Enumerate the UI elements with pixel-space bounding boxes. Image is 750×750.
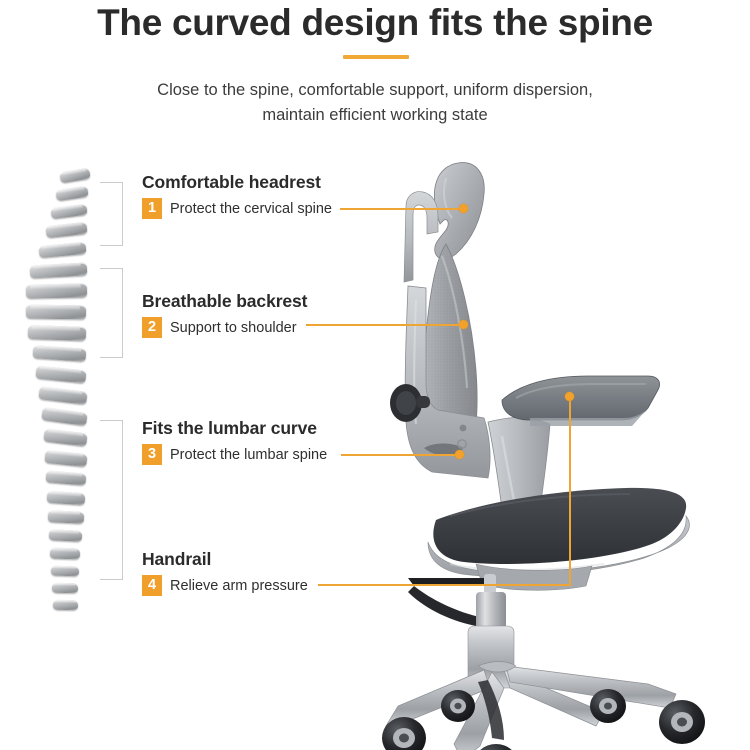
feature-callout-handrail: Handrail 4 Relieve arm pressure: [142, 549, 308, 596]
feature-detail-row: 1 Protect the cervical spine: [142, 198, 332, 219]
feature-title: Breathable backrest: [142, 291, 307, 312]
vertebra: [50, 547, 80, 559]
vertebra: [55, 186, 88, 201]
vertebra: [33, 345, 87, 362]
vertebra: [43, 428, 87, 446]
leader-dot-2: [459, 320, 468, 329]
page-title: The curved design fits the spine: [0, 2, 750, 44]
five-star-base-part: [386, 662, 676, 750]
leader-line-1: [340, 208, 464, 210]
bracket-cervical-group: [100, 182, 123, 246]
title-divider-rule: [343, 55, 409, 59]
leader-line-3: [341, 454, 460, 456]
caster: [441, 690, 475, 722]
feature-title: Handrail: [142, 549, 308, 570]
vertebra: [47, 491, 86, 506]
leader-line-4-vertical: [569, 396, 571, 585]
subtitle-line-2: maintain efficient working state: [0, 103, 750, 128]
vertebra: [39, 242, 87, 258]
vertebra: [52, 583, 78, 593]
vertebra: [30, 263, 88, 279]
feature-callout-comfortable-headrest: Comfortable headrest 1 Protect the cervi…: [142, 172, 332, 219]
vertebra: [48, 510, 85, 524]
bracket-thoracic-group: [100, 268, 123, 358]
leader-dot-3: [455, 450, 464, 459]
feature-subtitle: Protect the lumbar spine: [170, 447, 327, 463]
vertebra: [44, 450, 87, 467]
vertebra: [49, 529, 83, 542]
feature-number-badge: 3: [142, 444, 162, 465]
page-subtitle: Close to the spine, comfortable support,…: [0, 78, 750, 128]
feature-subtitle: Relieve arm pressure: [170, 578, 308, 594]
vertebra: [50, 204, 87, 219]
seat-cushion-part: [433, 488, 686, 564]
vertebra: [53, 600, 78, 610]
feature-detail-row: 4 Relieve arm pressure: [142, 575, 308, 596]
headrest-stem-part: [404, 192, 438, 282]
vertebra: [46, 470, 87, 485]
leader-line-4-horizontal: [318, 584, 571, 586]
caster: [590, 689, 626, 723]
feature-detail-row: 3 Protect the lumbar spine: [142, 444, 327, 465]
leader-dot-4: [565, 392, 574, 401]
feature-title: Fits the lumbar curve: [142, 418, 327, 439]
vertebra: [45, 222, 87, 238]
vertebra: [35, 365, 86, 383]
feature-callout-breathable-backrest: Breathable backrest 2 Support to shoulde…: [142, 291, 307, 338]
bracket-lumbar-group: [100, 420, 123, 580]
feature-number-badge: 1: [142, 198, 162, 219]
caster: [659, 700, 705, 744]
feature-subtitle: Support to shoulder: [170, 320, 297, 336]
vertebra: [26, 304, 86, 319]
feature-number-badge: 2: [142, 317, 162, 338]
leader-dot-1: [459, 204, 468, 213]
infographic-canvas: The curved design fits the spine Close t…: [0, 0, 750, 750]
leader-line-2: [306, 324, 464, 326]
feature-subtitle: Protect the cervical spine: [170, 201, 332, 217]
vertebra: [59, 168, 90, 184]
armrest-pad-part: [502, 376, 660, 426]
vertebra: [28, 325, 86, 341]
feature-detail-row: 2 Support to shoulder: [142, 317, 307, 338]
vertebra: [41, 407, 87, 426]
feature-callout-fits-lumbar-curve: Fits the lumbar curve 3 Protect the lumb…: [142, 418, 327, 465]
vertebra: [38, 386, 87, 405]
feature-number-badge: 4: [142, 575, 162, 596]
vertebra: [51, 566, 79, 577]
vertebra: [26, 283, 87, 298]
subtitle-line-1: Close to the spine, comfortable support,…: [0, 78, 750, 103]
feature-title: Comfortable headrest: [142, 172, 332, 193]
